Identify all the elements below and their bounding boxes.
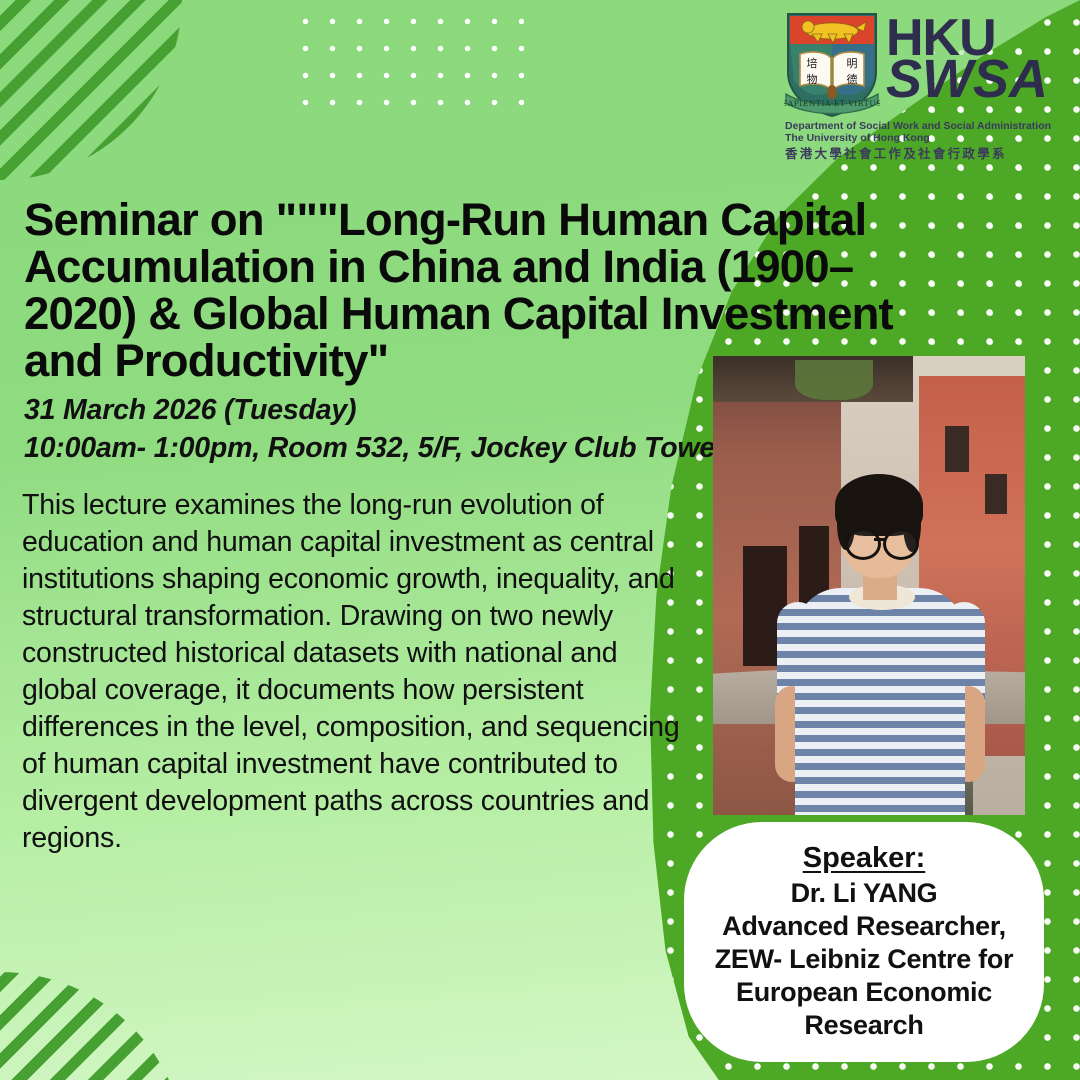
seminar-date: 31 March 2026 (Tuesday) xyxy=(24,394,356,427)
svg-text:明: 明 xyxy=(847,57,858,70)
speaker-affiliation-line1: ZEW- Leibniz Centre for xyxy=(715,943,1014,976)
photo-person-glasses-bridge xyxy=(874,538,885,541)
photo-person-striped-shirt xyxy=(795,588,965,815)
svg-text:物: 物 xyxy=(807,72,818,86)
speaker-label: Speaker: xyxy=(803,842,926,875)
speaker-name: Dr. Li YANG xyxy=(791,877,938,910)
seminar-poster: 培物 明德 SAPIENTIA·ET·VIRTUS HKU SWSA Depar… xyxy=(0,0,1080,1080)
hku-swsa-logo: 培物 明德 SAPIENTIA·ET·VIRTUS HKU SWSA Depar… xyxy=(784,8,1056,164)
speaker-title: Advanced Researcher, xyxy=(722,910,1006,943)
striped-circle-top-left-decoration xyxy=(0,0,182,180)
photo-window-two xyxy=(985,474,1007,514)
dept-chinese-line: 香港大學社會工作及社會行政學系 xyxy=(785,146,1057,162)
dot-grid-top-decoration xyxy=(288,4,524,122)
speaker-info-card: Speaker: Dr. Li YANG Advanced Researcher… xyxy=(684,822,1044,1062)
striped-circle-bottom-left-decoration xyxy=(0,972,186,1080)
hku-crest-icon: 培物 明德 SAPIENTIA·ET·VIRTUS xyxy=(784,10,880,118)
photo-person-glasses-left-lens xyxy=(845,528,881,560)
photo-window-one xyxy=(945,426,969,472)
seminar-abstract: This lecture examines the long-run evolu… xyxy=(22,487,682,857)
dept-en-line1: Department of Social Work and Social Adm… xyxy=(785,120,1057,132)
photo-foliage xyxy=(795,360,873,400)
svg-text:SAPIENTIA·ET·VIRTUS: SAPIENTIA·ET·VIRTUS xyxy=(784,99,880,108)
svg-text:培: 培 xyxy=(807,56,818,70)
department-lines: Department of Social Work and Social Adm… xyxy=(785,120,1057,162)
swsa-wordmark: SWSA xyxy=(886,52,1048,106)
speaker-portrait-photo xyxy=(713,356,1025,815)
seminar-time-venue: 10:00am- 1:00pm, Room 532, 5/F, Jockey C… xyxy=(24,432,726,465)
photo-person-glasses-right-lens xyxy=(883,528,919,560)
speaker-affiliation-line2: European Economic xyxy=(736,976,992,1009)
svg-text:德: 德 xyxy=(847,72,858,86)
dept-en-line2: The University of Hong Kong xyxy=(785,132,1057,144)
speaker-affiliation-line3: Research xyxy=(804,1009,923,1042)
